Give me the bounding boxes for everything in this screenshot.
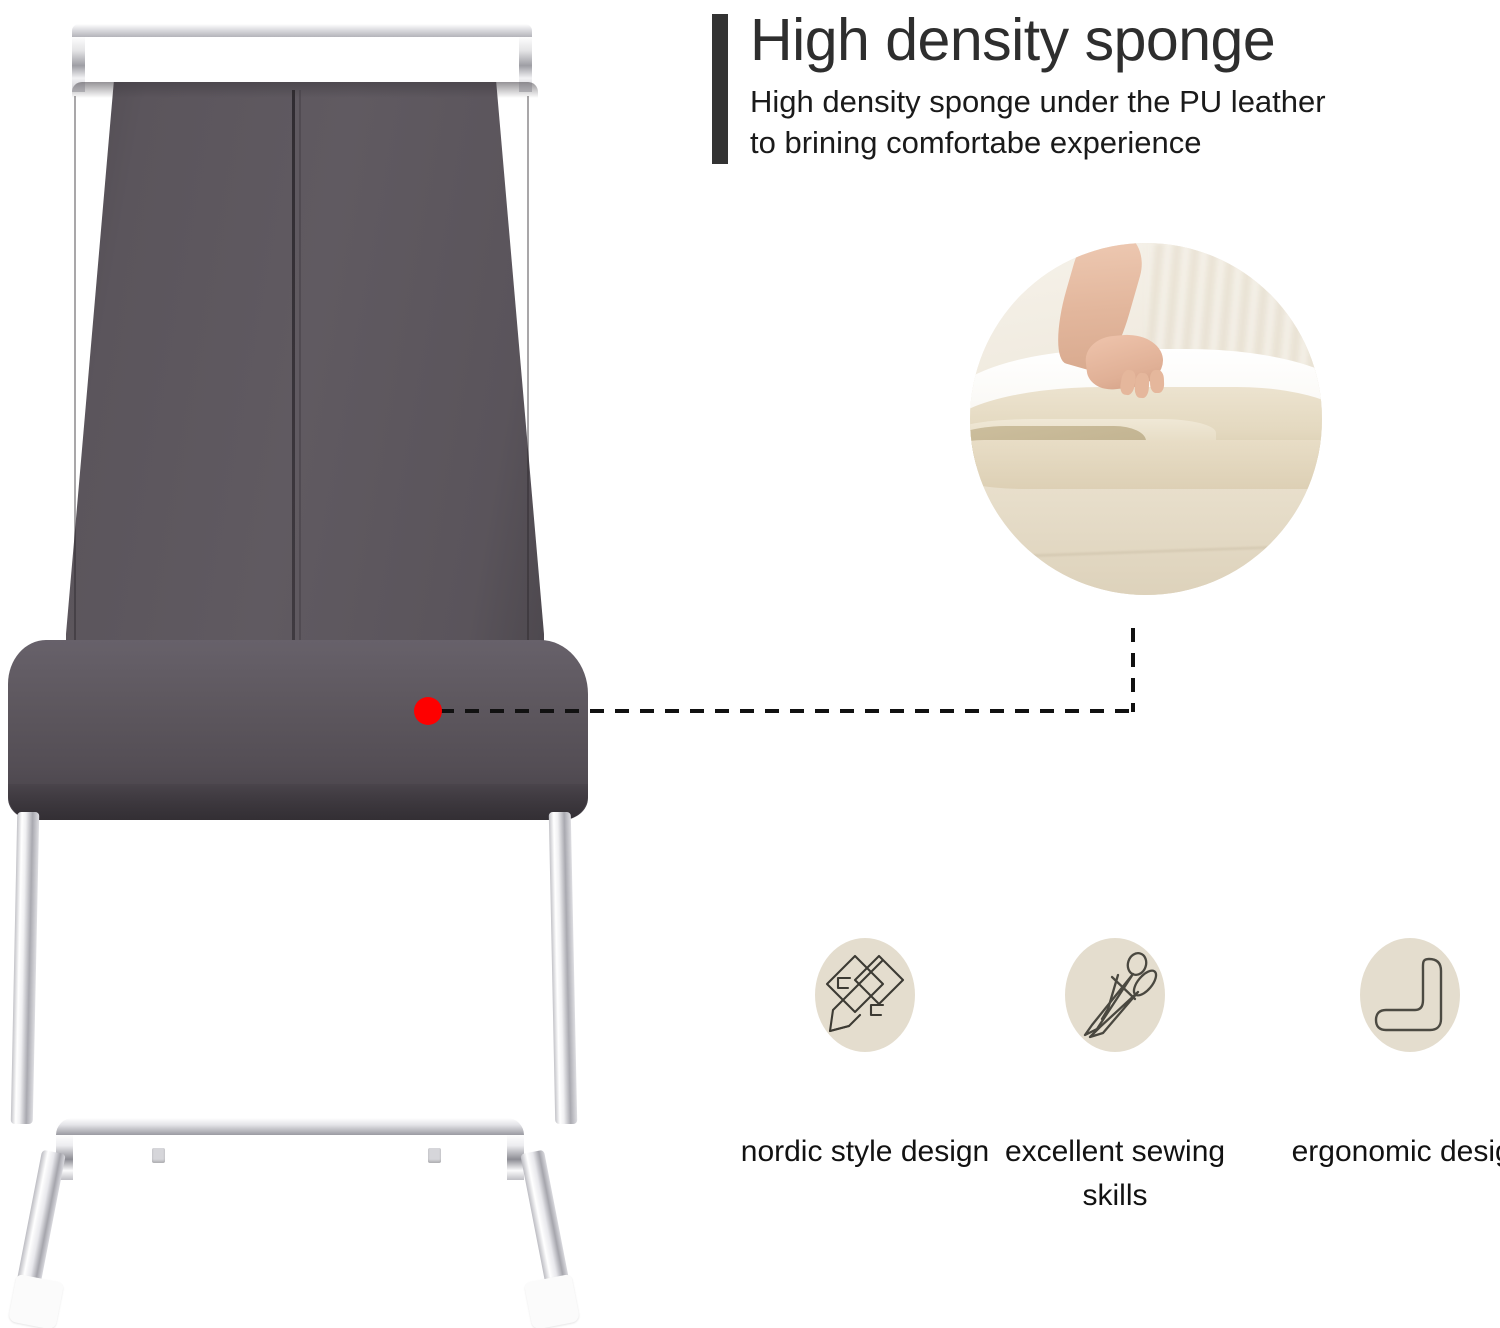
feature-label: nordic style design bbox=[740, 1130, 990, 1174]
chair-seat-front-edge bbox=[8, 784, 588, 820]
accent-bar bbox=[712, 14, 728, 164]
photo-floor bbox=[970, 479, 1322, 595]
feature-nordic-style: nordic style design bbox=[740, 938, 990, 1174]
feature-icon-row: nordic style design excellent sewing ski… bbox=[740, 938, 1500, 1308]
ergonomic-seat-icon bbox=[1367, 947, 1453, 1043]
chair-base-splay-right bbox=[520, 1150, 570, 1292]
chair-leg-right bbox=[549, 812, 578, 1124]
chair-backrest-seam-left bbox=[74, 96, 76, 648]
chair-backrest-seam-center bbox=[292, 90, 295, 650]
sponge-detail-photo bbox=[970, 243, 1322, 595]
chair-floor-protector-right bbox=[524, 1274, 580, 1328]
scissors-icon bbox=[1072, 947, 1158, 1043]
chair-base-splay-left bbox=[16, 1150, 66, 1292]
feature-label: ergonomic design bbox=[1285, 1130, 1500, 1174]
chair-backrest bbox=[66, 82, 544, 657]
feature-icon-circle bbox=[815, 938, 915, 1052]
feature-icon-circle bbox=[1065, 938, 1165, 1052]
photo-finger bbox=[1149, 369, 1164, 392]
chair-backrest-top-edge bbox=[72, 82, 538, 98]
heading-block: High density sponge High density sponge … bbox=[712, 10, 1492, 164]
chair-backrest-seam-center-stitch bbox=[299, 90, 301, 650]
chair-base-screw bbox=[428, 1148, 441, 1163]
chair-backrest-seam-right bbox=[527, 96, 529, 648]
page-subtitle: High density sponge under the PU leather… bbox=[750, 81, 1360, 163]
feature-ergonomic-design: ergonomic design bbox=[1285, 938, 1500, 1174]
chair-floor-protector-left bbox=[8, 1274, 64, 1328]
photo-foam-slab bbox=[970, 440, 1322, 489]
heading-text-group: High density sponge High density sponge … bbox=[750, 10, 1360, 164]
feature-label: excellent sewing skills bbox=[990, 1130, 1240, 1219]
chair-base-screw bbox=[152, 1148, 165, 1163]
red-dot-marker bbox=[414, 697, 442, 725]
feature-excellent-sewing: excellent sewing skills bbox=[990, 938, 1240, 1219]
callout-leader-horizontal bbox=[440, 709, 1135, 713]
chair-product-photo bbox=[0, 0, 640, 1328]
product-feature-infographic: High density sponge High density sponge … bbox=[0, 0, 1500, 1328]
page-title: High density sponge bbox=[750, 10, 1360, 70]
nordic-geometric-icon bbox=[822, 947, 908, 1043]
chair-sled-base bbox=[56, 1118, 524, 1180]
chair-leg-left bbox=[11, 812, 40, 1124]
callout-leader-vertical bbox=[1131, 628, 1135, 712]
feature-icon-circle bbox=[1360, 938, 1460, 1052]
